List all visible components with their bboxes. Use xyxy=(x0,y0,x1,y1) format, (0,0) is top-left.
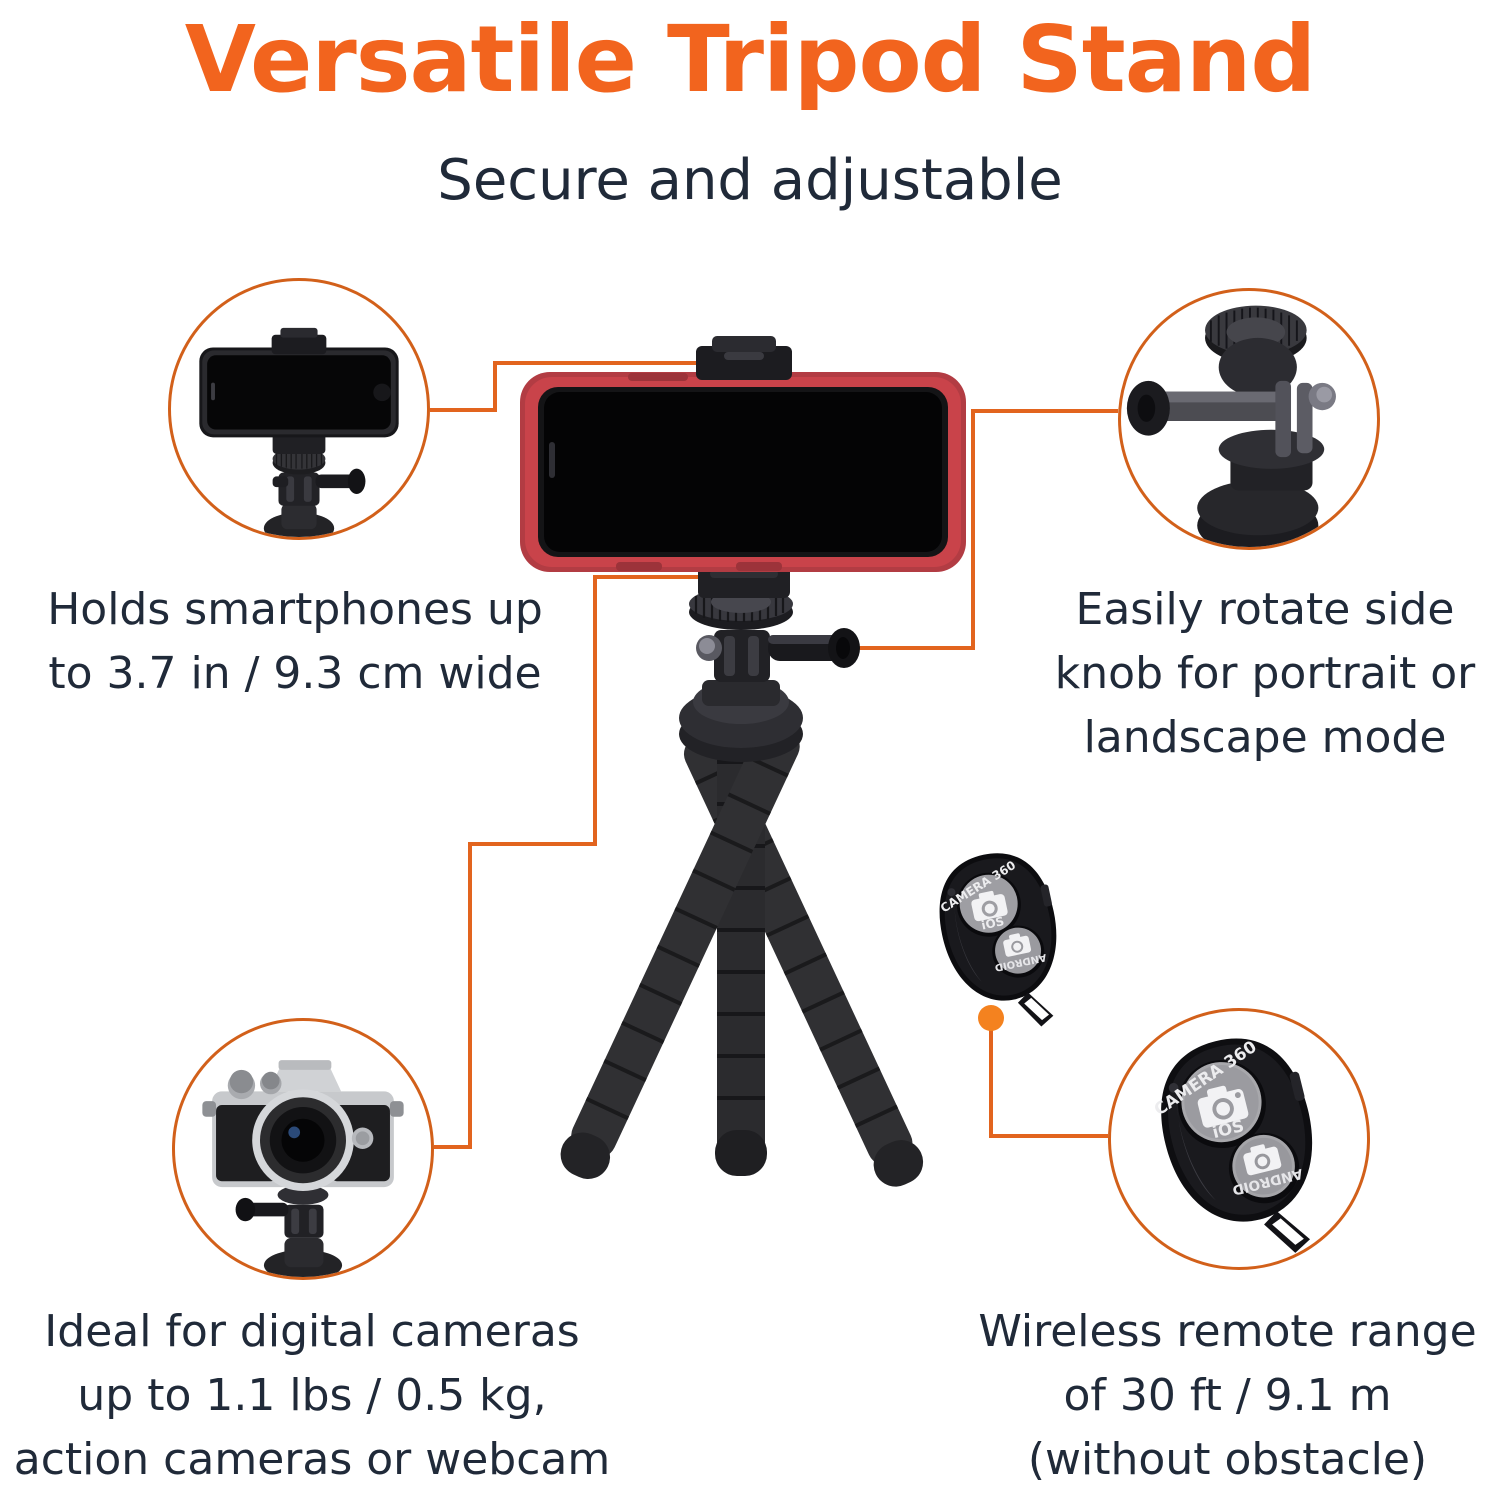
smartphone-in-clamp-icon xyxy=(171,281,427,537)
flexible-tripod-with-phone xyxy=(430,330,1070,1230)
callout-text-digital-cameras: Ideal for digital cameras up to 1.1 lbs … xyxy=(8,1300,616,1492)
bluetooth-remote-icon: CAMERA 360 iOS xyxy=(915,845,1085,1030)
bluetooth-remote-product: CAMERA 360 iOS xyxy=(915,845,1085,1030)
detail-circle-digital-camera xyxy=(172,1018,434,1280)
page-subtitle: Secure and adjustable xyxy=(0,148,1500,213)
infographic-canvas: Versatile Tripod Stand Secure and adjust… xyxy=(0,0,1500,1500)
main-product-illustration xyxy=(430,330,1070,1230)
callout-text-wireless-remote-range: Wireless remote range of 30 ft / 9.1 m (… xyxy=(960,1300,1495,1492)
rotation-knob-icon xyxy=(1121,291,1377,547)
smartphone-in-red-case xyxy=(520,372,966,572)
tripod-hub xyxy=(679,680,803,762)
detail-circle-bluetooth-remote: CAMERA 360 iOS xyxy=(1108,1008,1370,1270)
clamp-upper-jaw xyxy=(696,336,792,380)
detail-circle-rotation-knob xyxy=(1118,288,1380,550)
digital-camera-icon xyxy=(175,1021,431,1277)
gopro-joint xyxy=(696,628,860,682)
bluetooth-remote-icon: CAMERA 360 iOS xyxy=(1111,1011,1367,1267)
page-title: Versatile Tripod Stand xyxy=(0,6,1500,113)
callout-text-rotate-side-knob: Easily rotate side knob for portrait or … xyxy=(1035,578,1495,770)
tripod-legs xyxy=(553,717,930,1193)
detail-circle-smartphone-clamp xyxy=(168,278,430,540)
